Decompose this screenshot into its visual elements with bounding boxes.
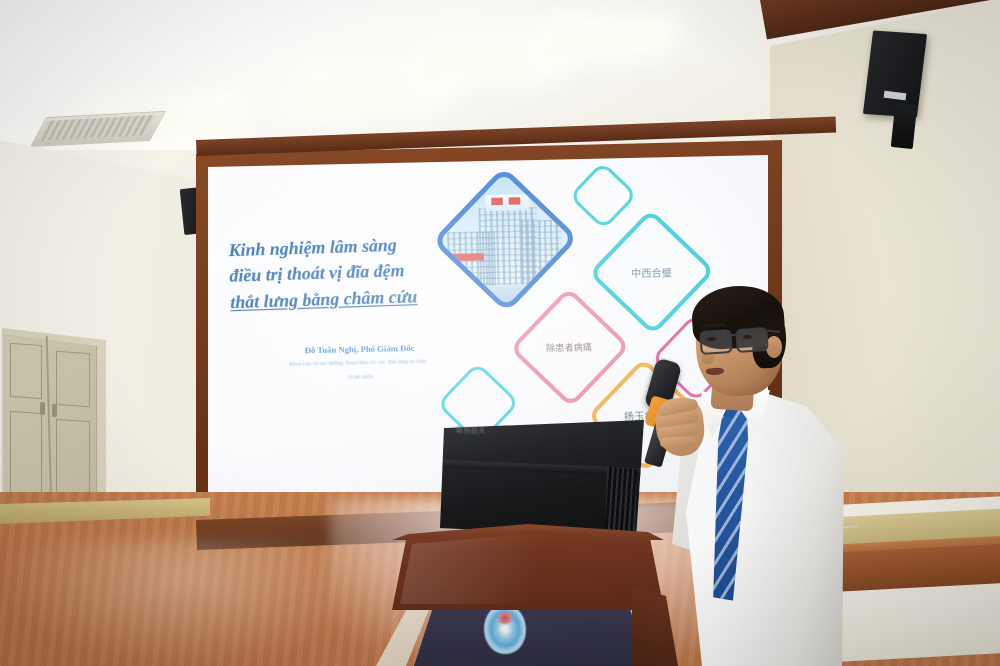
slide-date: 21.06.2024 — [248, 372, 472, 383]
monitor-vent-grille — [605, 467, 637, 536]
slide-title-line-3: thắt lưng bằng châm cứu — [230, 286, 418, 312]
presenter-finger — [660, 436, 696, 448]
slide-affiliation: Khoa Lão vệ bảo dưỡng, Khoa Đau cổ, vai,… — [225, 358, 490, 369]
speaker-bracket — [891, 103, 917, 149]
presentation-room-photo: Kinh nghiệm lâm sàng điều trị thoát vị đ… — [0, 0, 1000, 666]
podium-surface-sheen — [400, 534, 650, 604]
monitor-brand-logo: 联想启天 — [456, 425, 512, 437]
podium-emblem-center — [498, 612, 512, 624]
door-handle[interactable] — [40, 402, 45, 415]
door-panel — [10, 343, 42, 399]
presenter-nose — [702, 350, 714, 364]
diamond-label-pink-large: 除患者病痛 — [547, 340, 593, 354]
diamond-cyan-small — [569, 161, 638, 230]
diamond-label-cyan-large: 中西合璧 — [631, 264, 672, 280]
slide-author: Đỗ Tuấn Nghị, Phó Giám Đốc — [247, 341, 472, 356]
door-panel — [10, 411, 42, 497]
door-handle[interactable] — [52, 404, 57, 417]
presenter-ear — [766, 336, 782, 358]
floor-light-reflection — [0, 540, 340, 666]
door-panel — [56, 351, 90, 407]
